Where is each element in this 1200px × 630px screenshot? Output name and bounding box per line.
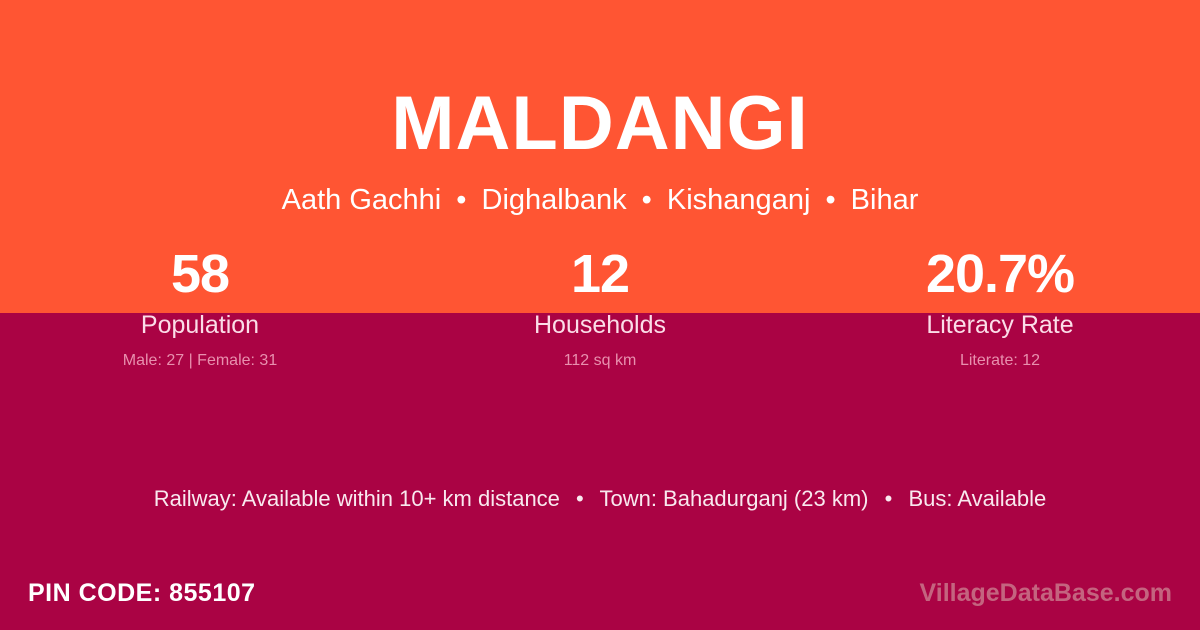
stat-literacy-rate: 20.7% Literacy Rate Literate: 12 [800,243,1200,371]
breadcrumb: Aath Gachhi • Dighalbank • Kishanganj • … [0,182,1200,218]
pin-code: PIN CODE: 855107 [28,578,256,608]
stat-label: Literacy Rate [800,310,1200,340]
stat-value: 58 [0,243,400,305]
breadcrumb-separator: • [635,184,659,216]
stat-value: 12 [400,243,800,305]
stat-label: Households [400,310,800,340]
page-title: MALDANGI [0,82,1200,166]
stat-sublabel: 112 sq km [400,351,800,371]
breadcrumb-panchayat: Aath Gachhi [282,184,442,216]
breadcrumb-block: Dighalbank [482,184,627,216]
village-info-card: MALDANGI Aath Gachhi • Dighalbank • Kish… [0,0,1200,630]
stat-households: 12 Households 112 sq km [400,243,800,371]
amenities-line: Railway: Available within 10+ km distanc… [0,484,1200,514]
amenity-town: Town: Bahadurganj (23 km) [599,486,868,511]
breadcrumb-separator: • [818,184,842,216]
amenity-railway: Railway: Available within 10+ km distanc… [154,486,560,511]
stats-row: 58 Population Male: 27 | Female: 31 12 H… [0,243,1200,371]
breadcrumb-district: Kishanganj [667,184,811,216]
amenity-separator: • [875,486,903,511]
amenity-bus: Bus: Available [908,486,1046,511]
breadcrumb-state: Bihar [851,184,919,216]
stat-label: Population [0,310,400,340]
stat-population: 58 Population Male: 27 | Female: 31 [0,243,400,371]
amenity-separator: • [566,486,594,511]
breadcrumb-separator: • [449,184,473,216]
stat-sublabel: Male: 27 | Female: 31 [0,351,400,371]
stat-value: 20.7% [800,243,1200,305]
site-watermark: VillageDataBase.com [920,578,1172,608]
stat-sublabel: Literate: 12 [800,351,1200,371]
